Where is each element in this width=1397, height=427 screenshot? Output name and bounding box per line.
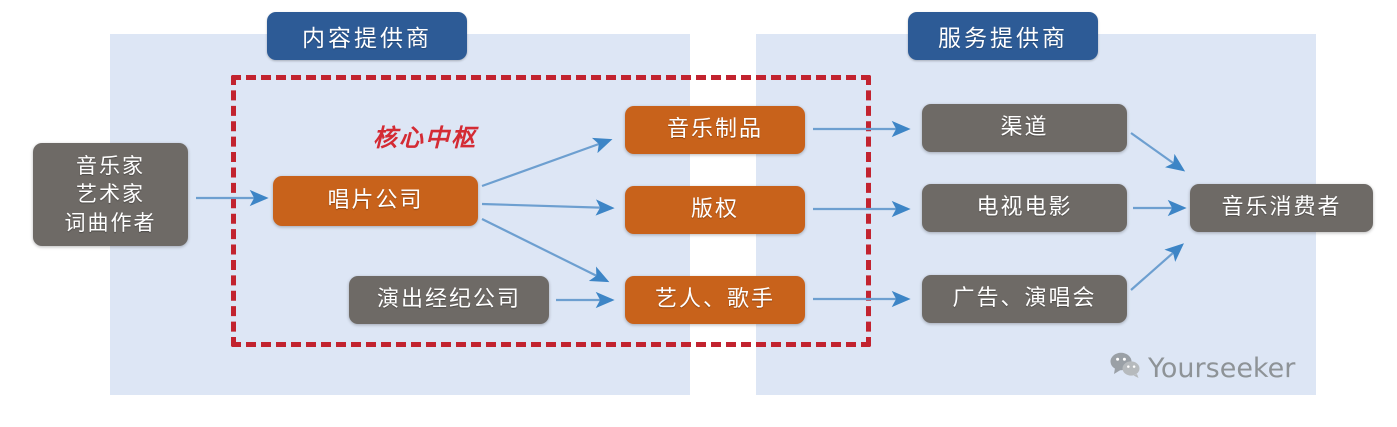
section-header-service-provider: 服务提供商: [908, 12, 1098, 60]
node-record-company: 唱片公司: [273, 176, 478, 226]
node-artists-singers: 艺人、歌手: [625, 276, 805, 324]
node-music-consumers: 音乐消费者: [1190, 184, 1373, 232]
node-copyright: 版权: [625, 186, 805, 234]
node-creators-line-2: 艺术家: [76, 180, 145, 208]
wechat-icon: [1110, 352, 1140, 385]
node-music-products: 音乐制品: [625, 106, 805, 154]
diagram-canvas: 内容提供商 服务提供商 核心中枢 音乐家 艺术家 词曲作者 唱片公司 演出经纪公…: [0, 0, 1397, 427]
node-ads-concerts: 广告、演唱会: [922, 275, 1127, 323]
node-performance-agency: 演出经纪公司: [349, 276, 549, 324]
core-hub-label: 核心中枢: [330, 118, 520, 153]
node-channels: 渠道: [922, 104, 1127, 152]
node-creators-line-1: 音乐家: [76, 152, 145, 180]
node-creators: 音乐家 艺术家 词曲作者: [33, 143, 188, 246]
node-tv-film: 电视电影: [922, 184, 1127, 232]
watermark-text: Yourseeker: [1148, 353, 1295, 384]
watermark: Yourseeker: [1110, 352, 1295, 385]
section-header-content-provider: 内容提供商: [267, 12, 467, 60]
node-creators-line-3: 词曲作者: [65, 209, 157, 237]
